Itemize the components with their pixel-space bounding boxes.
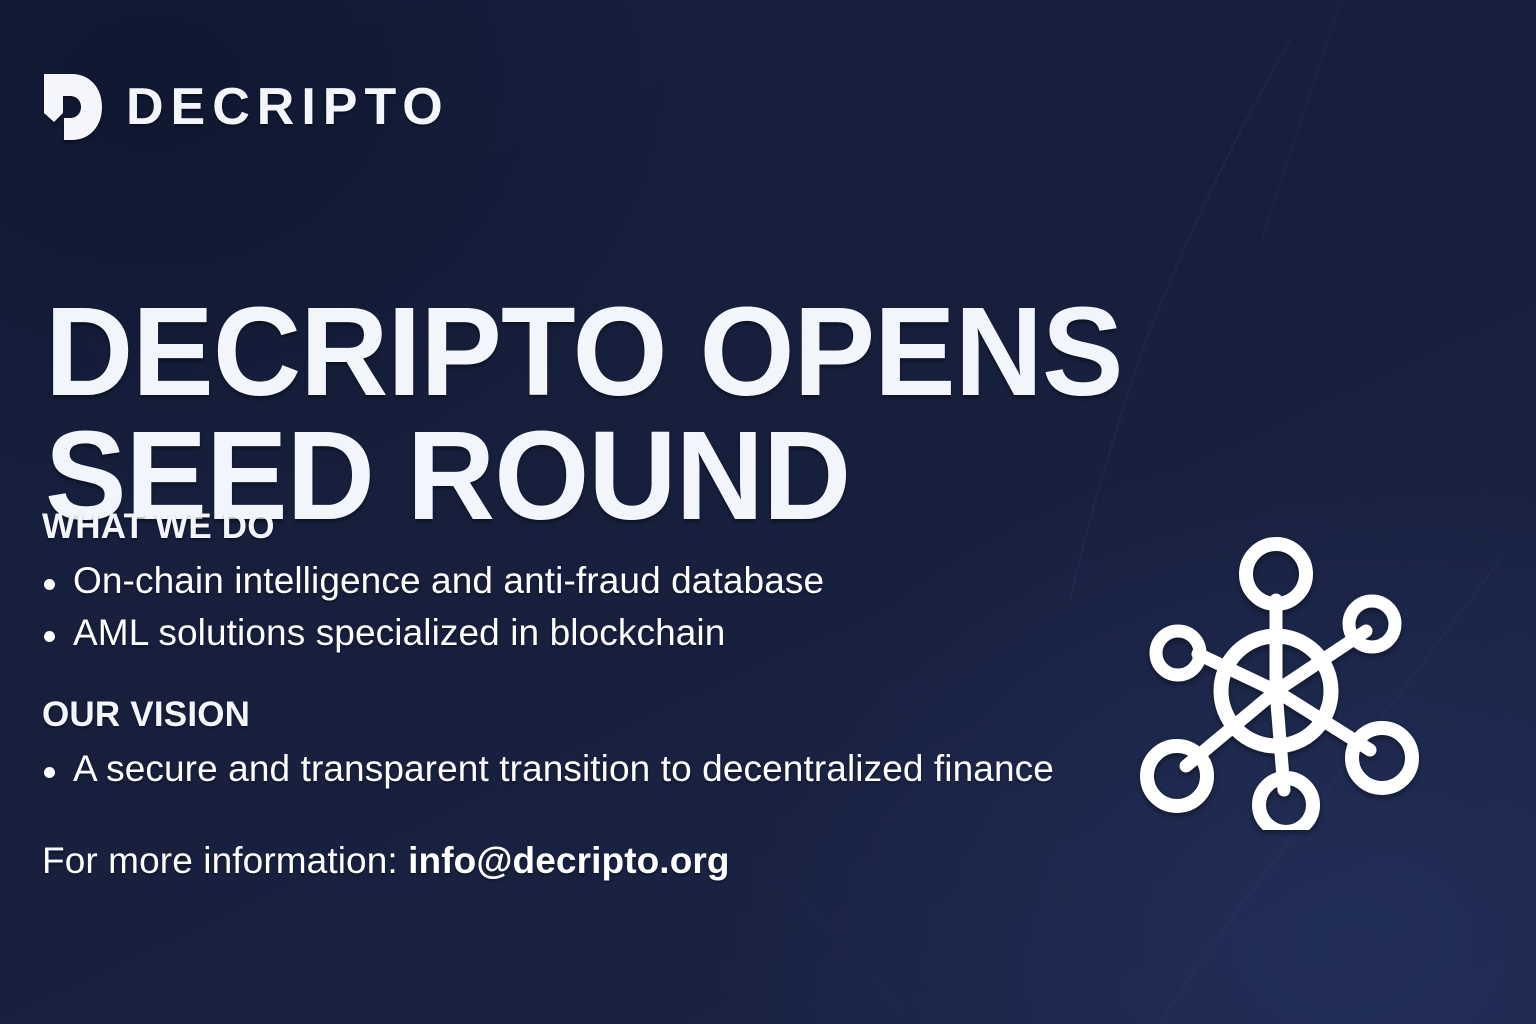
contact-line: For more information: info@decripto.org xyxy=(42,840,1132,882)
contact-email[interactable]: info@decripto.org xyxy=(408,840,729,881)
brand-wordmark: DECRIPTO xyxy=(126,81,450,133)
section-title: OUR VISION xyxy=(42,696,1132,735)
brand-logo-lockup: DECRIPTO xyxy=(42,72,450,142)
contact-prefix: For more information: xyxy=(42,840,398,881)
content-body: WHAT WE DO On-chain intelligence and ant… xyxy=(42,508,1132,882)
section-divider-space xyxy=(42,660,1132,696)
decripto-d-monogram-icon xyxy=(42,72,104,142)
page-title: DECRIPTO OPENS SEED ROUND xyxy=(45,290,1141,537)
section-title: WHAT WE DO xyxy=(42,508,1132,547)
bullet-list: A secure and transparent transition to d… xyxy=(42,743,1132,796)
poster-canvas: DECRIPTO DECRIPTO OPENS SEED ROUND WHAT … xyxy=(0,0,1536,1024)
list-item: On-chain intelligence and anti-fraud dat… xyxy=(42,555,1132,608)
bullet-list: On-chain intelligence and anti-fraud dat… xyxy=(42,555,1132,661)
list-item: A secure and transparent transition to d… xyxy=(42,743,1132,796)
headline-line-1: DECRIPTO OPENS xyxy=(45,290,1141,413)
section-what-we-do: WHAT WE DO On-chain intelligence and ant… xyxy=(42,508,1132,660)
network-nodes-icon xyxy=(1138,528,1434,830)
section-our-vision: OUR VISION A secure and transparent tran… xyxy=(42,696,1132,795)
list-item: AML solutions specialized in blockchain xyxy=(42,607,1132,660)
